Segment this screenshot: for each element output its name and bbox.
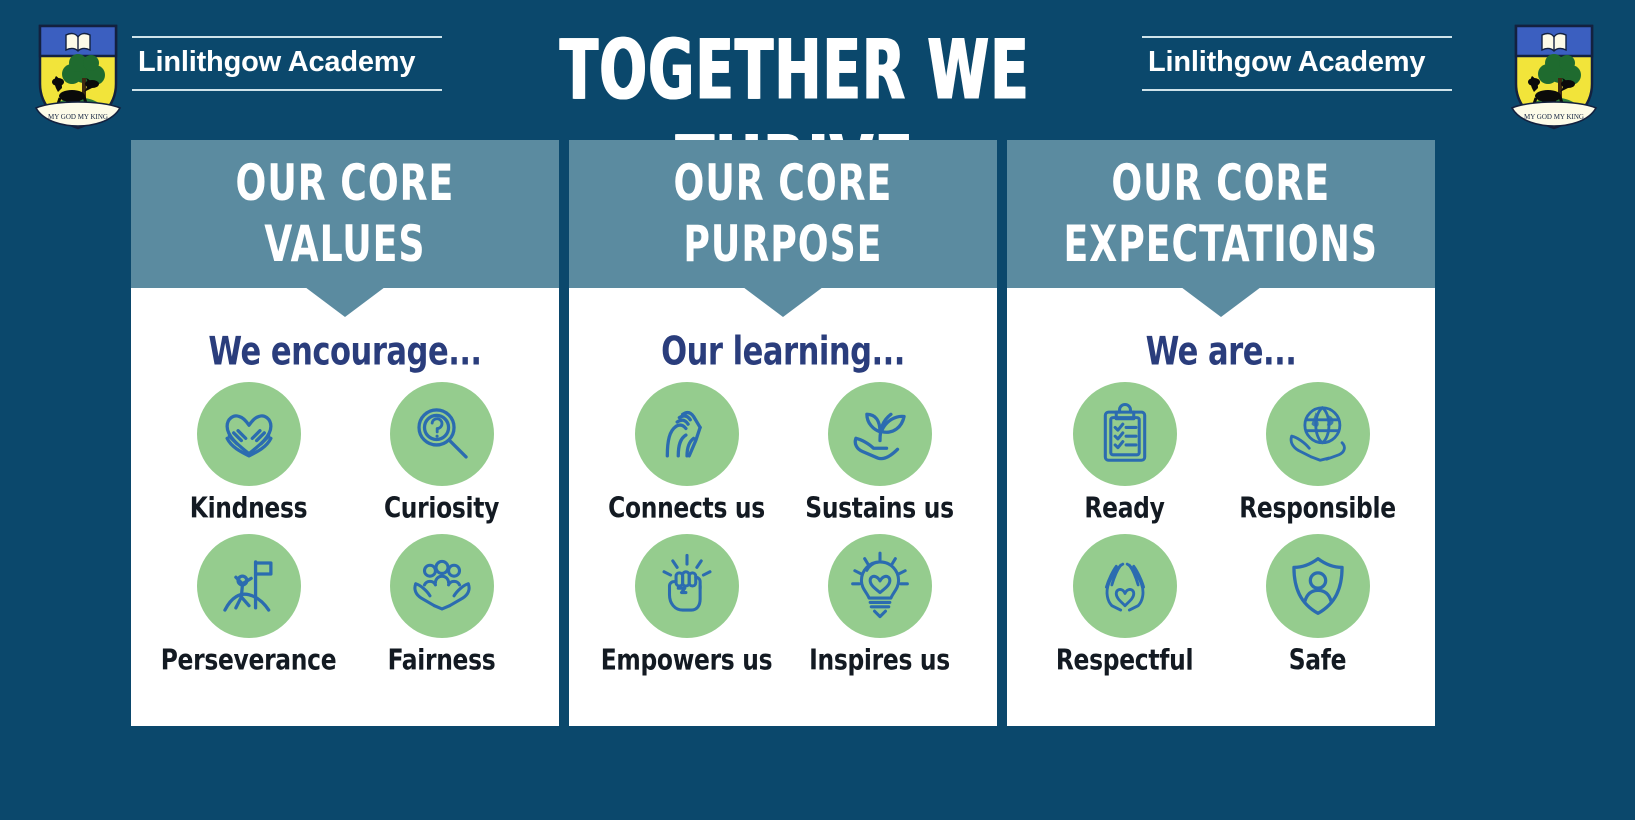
- panel-subtitle: Our learning...: [661, 329, 905, 375]
- school-name-block-left: Linlithgow Academy: [132, 36, 442, 91]
- purpose-grid: Connects us Sustains us: [569, 382, 997, 676]
- linlithgow-academy-crest-right: MY GOD MY KING: [1508, 22, 1600, 132]
- expectation-grid: Ready: [1007, 382, 1435, 676]
- panel-subtitle: We encourage...: [208, 329, 481, 375]
- school-name-block-right: Linlithgow Academy: [1142, 36, 1452, 91]
- magnifier-question-icon: [390, 382, 494, 486]
- clipboard-checklist-icon: [1073, 382, 1177, 486]
- school-name-rule-bottom: [132, 89, 442, 91]
- panel-header-core-values: OUR CORE VALUES: [131, 140, 559, 288]
- expectation-label: Responsible: [1239, 493, 1396, 525]
- climber-flag-icon: [197, 534, 301, 638]
- poster-canvas: MY GOD MY KING Linlithgow Academy TOGETH…: [0, 0, 1635, 820]
- panel-subtitle: We are...: [1146, 329, 1297, 375]
- panel-body-core-expectations: We are...: [1007, 288, 1435, 726]
- clasped-hands-icon: [635, 382, 739, 486]
- purpose-label: Empowers us: [601, 645, 773, 677]
- core-panels: OUR CORE VALUES We encourage...: [131, 140, 1435, 726]
- value-label: Curiosity: [384, 493, 499, 525]
- purpose-item-connects-us[interactable]: Connects us: [595, 382, 778, 524]
- expectation-label: Ready: [1084, 493, 1164, 525]
- panel-core-values: OUR CORE VALUES We encourage...: [131, 140, 559, 726]
- purpose-item-sustains-us[interactable]: Sustains us: [788, 382, 971, 524]
- purpose-label: Inspires us: [809, 645, 950, 677]
- value-item-kindness[interactable]: Kindness: [157, 382, 340, 524]
- value-item-curiosity[interactable]: Curiosity: [350, 382, 533, 524]
- lightbulb-heart-icon: [828, 534, 932, 638]
- svg-text:MY GOD MY KING: MY GOD MY KING: [48, 113, 108, 121]
- svg-text:MY GOD MY KING: MY GOD MY KING: [1524, 113, 1584, 121]
- expectation-item-responsible[interactable]: Responsible: [1226, 382, 1409, 524]
- school-name-left: Linlithgow Academy: [132, 38, 442, 89]
- linlithgow-academy-crest-left: MY GOD MY KING: [32, 22, 124, 132]
- value-label: Perseverance: [161, 645, 337, 677]
- panel-core-purpose: OUR CORE PURPOSE Our learning...: [569, 140, 997, 726]
- hand-plant-icon: [828, 382, 932, 486]
- raised-fist-icon: [635, 534, 739, 638]
- expectation-label: Safe: [1289, 645, 1346, 677]
- expectation-label: Respectful: [1056, 645, 1193, 677]
- panel-header-core-purpose: OUR CORE PURPOSE: [569, 140, 997, 288]
- panel-heading: OUR CORE EXPECTATIONS: [1064, 153, 1378, 276]
- value-label: Fairness: [388, 645, 496, 677]
- value-label: Kindness: [190, 493, 308, 525]
- panel-notch: [1181, 287, 1261, 317]
- heart-handshake-icon: [197, 382, 301, 486]
- panel-heading: OUR CORE VALUES: [236, 153, 455, 276]
- panel-body-core-purpose: Our learning...: [569, 288, 997, 726]
- purpose-label: Sustains us: [805, 493, 953, 525]
- poster-header: MY GOD MY KING Linlithgow Academy TOGETH…: [0, 0, 1635, 140]
- purpose-label: Connects us: [608, 493, 765, 525]
- value-item-fairness[interactable]: Fairness: [350, 534, 533, 676]
- panel-body-core-values: We encourage... Kindness: [131, 288, 559, 726]
- panel-notch: [305, 287, 385, 317]
- school-name-rule-bottom: [1142, 89, 1452, 91]
- expectation-item-ready[interactable]: Ready: [1033, 382, 1216, 524]
- hands-globe-icon: [1266, 382, 1370, 486]
- shield-person-icon: [1266, 534, 1370, 638]
- praying-hands-heart-icon: [1073, 534, 1177, 638]
- hands-holding-people-icon: [390, 534, 494, 638]
- school-name-right: Linlithgow Academy: [1142, 38, 1452, 89]
- panel-notch: [743, 287, 823, 317]
- purpose-item-inspires-us[interactable]: Inspires us: [788, 534, 971, 676]
- value-item-perseverance[interactable]: Perseverance: [157, 534, 340, 676]
- value-grid: Kindness Curiosity: [131, 382, 559, 676]
- expectation-item-respectful[interactable]: Respectful: [1033, 534, 1216, 676]
- purpose-item-empowers-us[interactable]: Empowers us: [595, 534, 778, 676]
- expectation-item-safe[interactable]: Safe: [1226, 534, 1409, 676]
- panel-core-expectations: OUR CORE EXPECTATIONS We are...: [1007, 140, 1435, 726]
- panel-header-core-expectations: OUR CORE EXPECTATIONS: [1007, 140, 1435, 288]
- panel-heading: OUR CORE PURPOSE: [674, 153, 893, 276]
